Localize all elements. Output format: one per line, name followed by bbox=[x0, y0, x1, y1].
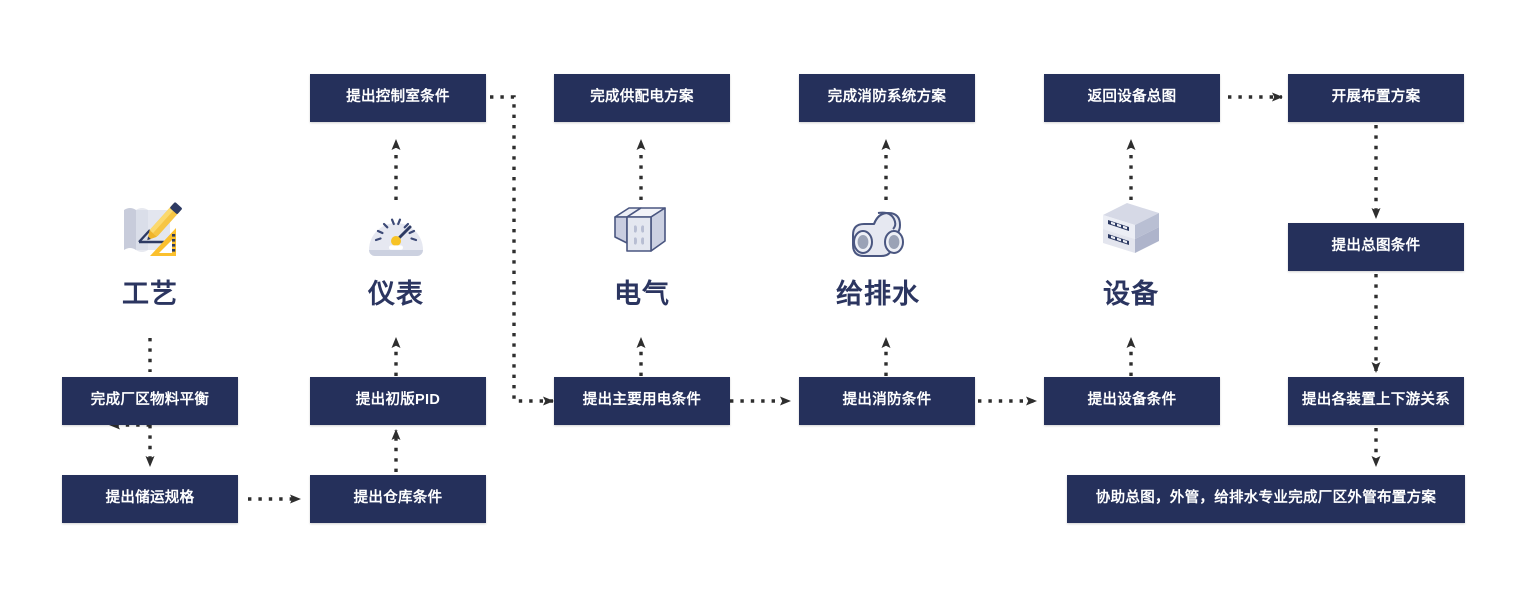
discipline-label-equipment: 设备 bbox=[1103, 272, 1159, 311]
discipline-plumbing: 给排水 bbox=[836, 198, 920, 311]
box-control-room-condition[interactable]: 提出控制室条件 bbox=[310, 74, 486, 122]
box-plant-material-balance[interactable]: 完成厂区物料平衡 bbox=[62, 377, 238, 425]
box-start-layout-plan[interactable]: 开展布置方案 bbox=[1288, 74, 1464, 122]
server-stack-icon bbox=[1093, 198, 1169, 264]
tee-pipe-icon bbox=[840, 198, 916, 264]
wire-control-room-to-main-power bbox=[490, 97, 553, 401]
flowchart-canvas: 工艺 仪表 bbox=[0, 0, 1530, 596]
box-plot-plan-condition[interactable]: 提出总图条件 bbox=[1288, 223, 1464, 271]
box-initial-pid[interactable]: 提出初版PID bbox=[310, 377, 486, 425]
box-equipment-condition[interactable]: 提出设备条件 bbox=[1044, 377, 1220, 425]
box-warehouse-condition[interactable]: 提出仓库条件 bbox=[310, 475, 486, 523]
discipline-electrical: 电气 bbox=[604, 198, 680, 311]
box-main-power-condition[interactable]: 提出主要用电条件 bbox=[554, 377, 730, 425]
discipline-instrument: 仪表 bbox=[358, 198, 434, 311]
gauge-icon bbox=[358, 198, 434, 264]
discipline-label-plumbing-electrical: 电气 bbox=[614, 272, 670, 311]
box-power-distribution-plan[interactable]: 完成供配电方案 bbox=[554, 74, 730, 122]
discipline-equipment: 设备 bbox=[1093, 198, 1169, 311]
power-socket-icon bbox=[604, 198, 680, 264]
box-storage-transport-spec[interactable]: 提出储运规格 bbox=[62, 475, 238, 523]
discipline-label-process: 工艺 bbox=[122, 272, 178, 311]
box-return-equipment-layout[interactable]: 返回设备总图 bbox=[1044, 74, 1220, 122]
box-fire-system-plan[interactable]: 完成消防系统方案 bbox=[799, 74, 975, 122]
discipline-label-plumbing: 给排水 bbox=[836, 272, 920, 311]
box-unit-upstream-downstream[interactable]: 提出各装置上下游关系 bbox=[1288, 377, 1464, 425]
box-assist-external-pipe-plan[interactable]: 协助总图，外管，给排水专业完成厂区外管布置方案 bbox=[1067, 475, 1465, 523]
blueprint-pencil-ruler-icon bbox=[112, 198, 188, 264]
discipline-process: 工艺 bbox=[112, 198, 188, 311]
discipline-label-instrument: 仪表 bbox=[368, 272, 424, 311]
box-fire-condition[interactable]: 提出消防条件 bbox=[799, 377, 975, 425]
